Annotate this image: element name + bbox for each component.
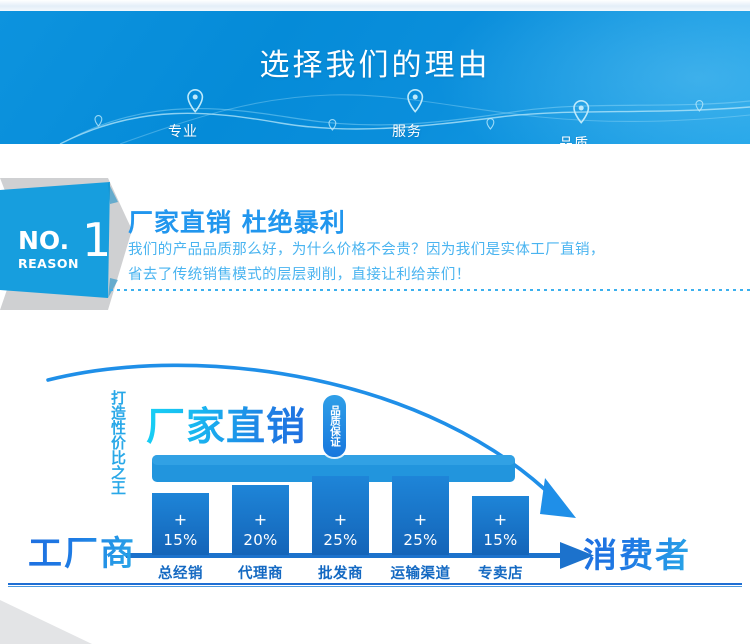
channel-bar-3: + 25% — [392, 476, 449, 555]
quality-guarantee-label: 品质保证 — [329, 405, 340, 447]
channel-bar-4: + 15% — [472, 496, 529, 555]
channel-bar-0: + 15% — [152, 493, 209, 555]
quality-guarantee-badge: 品质保证 — [323, 395, 346, 457]
tier-label-3: 运输渠道 — [378, 562, 463, 583]
bottom-separator — [8, 583, 742, 587]
bar-plus-sign-1: + — [232, 513, 289, 527]
channel-bar-2: + 25% — [312, 476, 369, 555]
map-pin-icon — [487, 119, 494, 129]
bar-plus-sign-0: + — [152, 513, 209, 527]
consumer-label: 消费者 — [583, 528, 691, 577]
bar-value-0: 15% — [152, 531, 209, 549]
top-gradient-strip — [0, 0, 750, 11]
bar-value-1: 20% — [232, 531, 289, 549]
pin-label-quality: 品质 — [559, 133, 589, 144]
reason-body: 我们的产品品质那么好，为什么价格不会贵？因为我们是实体工厂直销， 省去了传统销售… — [128, 238, 734, 288]
badge-no-text: NO. — [18, 226, 69, 255]
pin-label-service: 服务 — [392, 121, 422, 141]
map-pin-icon — [408, 90, 422, 112]
promo-banner-page: 选择我们的理由 专业 服务 品质 NO. 1 REASON 厂家直销 杜绝暴利 … — [0, 0, 750, 644]
channel-diagram: 打造性价比之王 厂家直销 品质保证 工厂商 消费者 + 15% + 20% + … — [0, 350, 750, 600]
page-title: 选择我们的理由 — [0, 40, 750, 84]
bar-plus-sign-3: + — [392, 513, 449, 527]
corner-triangle-decoration — [0, 600, 120, 644]
map-pin-icon — [574, 101, 588, 123]
vertical-slogan: 打造性价比之王 — [104, 390, 126, 495]
bar-plus-sign-4: + — [472, 513, 529, 527]
bar-plus-sign-2: + — [312, 513, 369, 527]
map-pin-icon — [188, 90, 202, 112]
pin-label-professional: 专业 — [168, 121, 198, 141]
reason-dotted-divider — [110, 289, 750, 291]
map-pin-icon — [329, 120, 336, 130]
factory-label: 工厂商 — [28, 526, 136, 575]
bar-value-4: 15% — [472, 531, 529, 549]
bar-value-2: 25% — [312, 531, 369, 549]
badge-number: 1 — [82, 217, 111, 263]
diagram-main-title: 厂家直销 — [146, 396, 306, 452]
reason-heading: 厂家直销 杜绝暴利 — [128, 203, 346, 239]
tier-label-4: 专卖店 — [464, 562, 537, 583]
badge-reason-text: REASON — [18, 256, 79, 271]
tier-label-2: 批发商 — [304, 562, 377, 583]
header-banner: 选择我们的理由 专业 服务 品质 — [0, 11, 750, 144]
reason-body-line-2: 省去了传统销售模式的层层剥削，直接让利给亲们！ — [128, 263, 734, 288]
reason-body-line-1: 我们的产品品质那么好，为什么价格不会贵？因为我们是实体工厂直销， — [128, 238, 734, 263]
map-pin-icon — [696, 101, 703, 111]
channel-bar-1: + 20% — [232, 485, 289, 555]
arc-arrowhead — [540, 478, 576, 518]
map-pin-icon — [95, 116, 102, 126]
bar-value-3: 25% — [392, 531, 449, 549]
tier-label-1: 代理商 — [224, 562, 297, 583]
tier-label-0: 总经销 — [144, 562, 217, 583]
